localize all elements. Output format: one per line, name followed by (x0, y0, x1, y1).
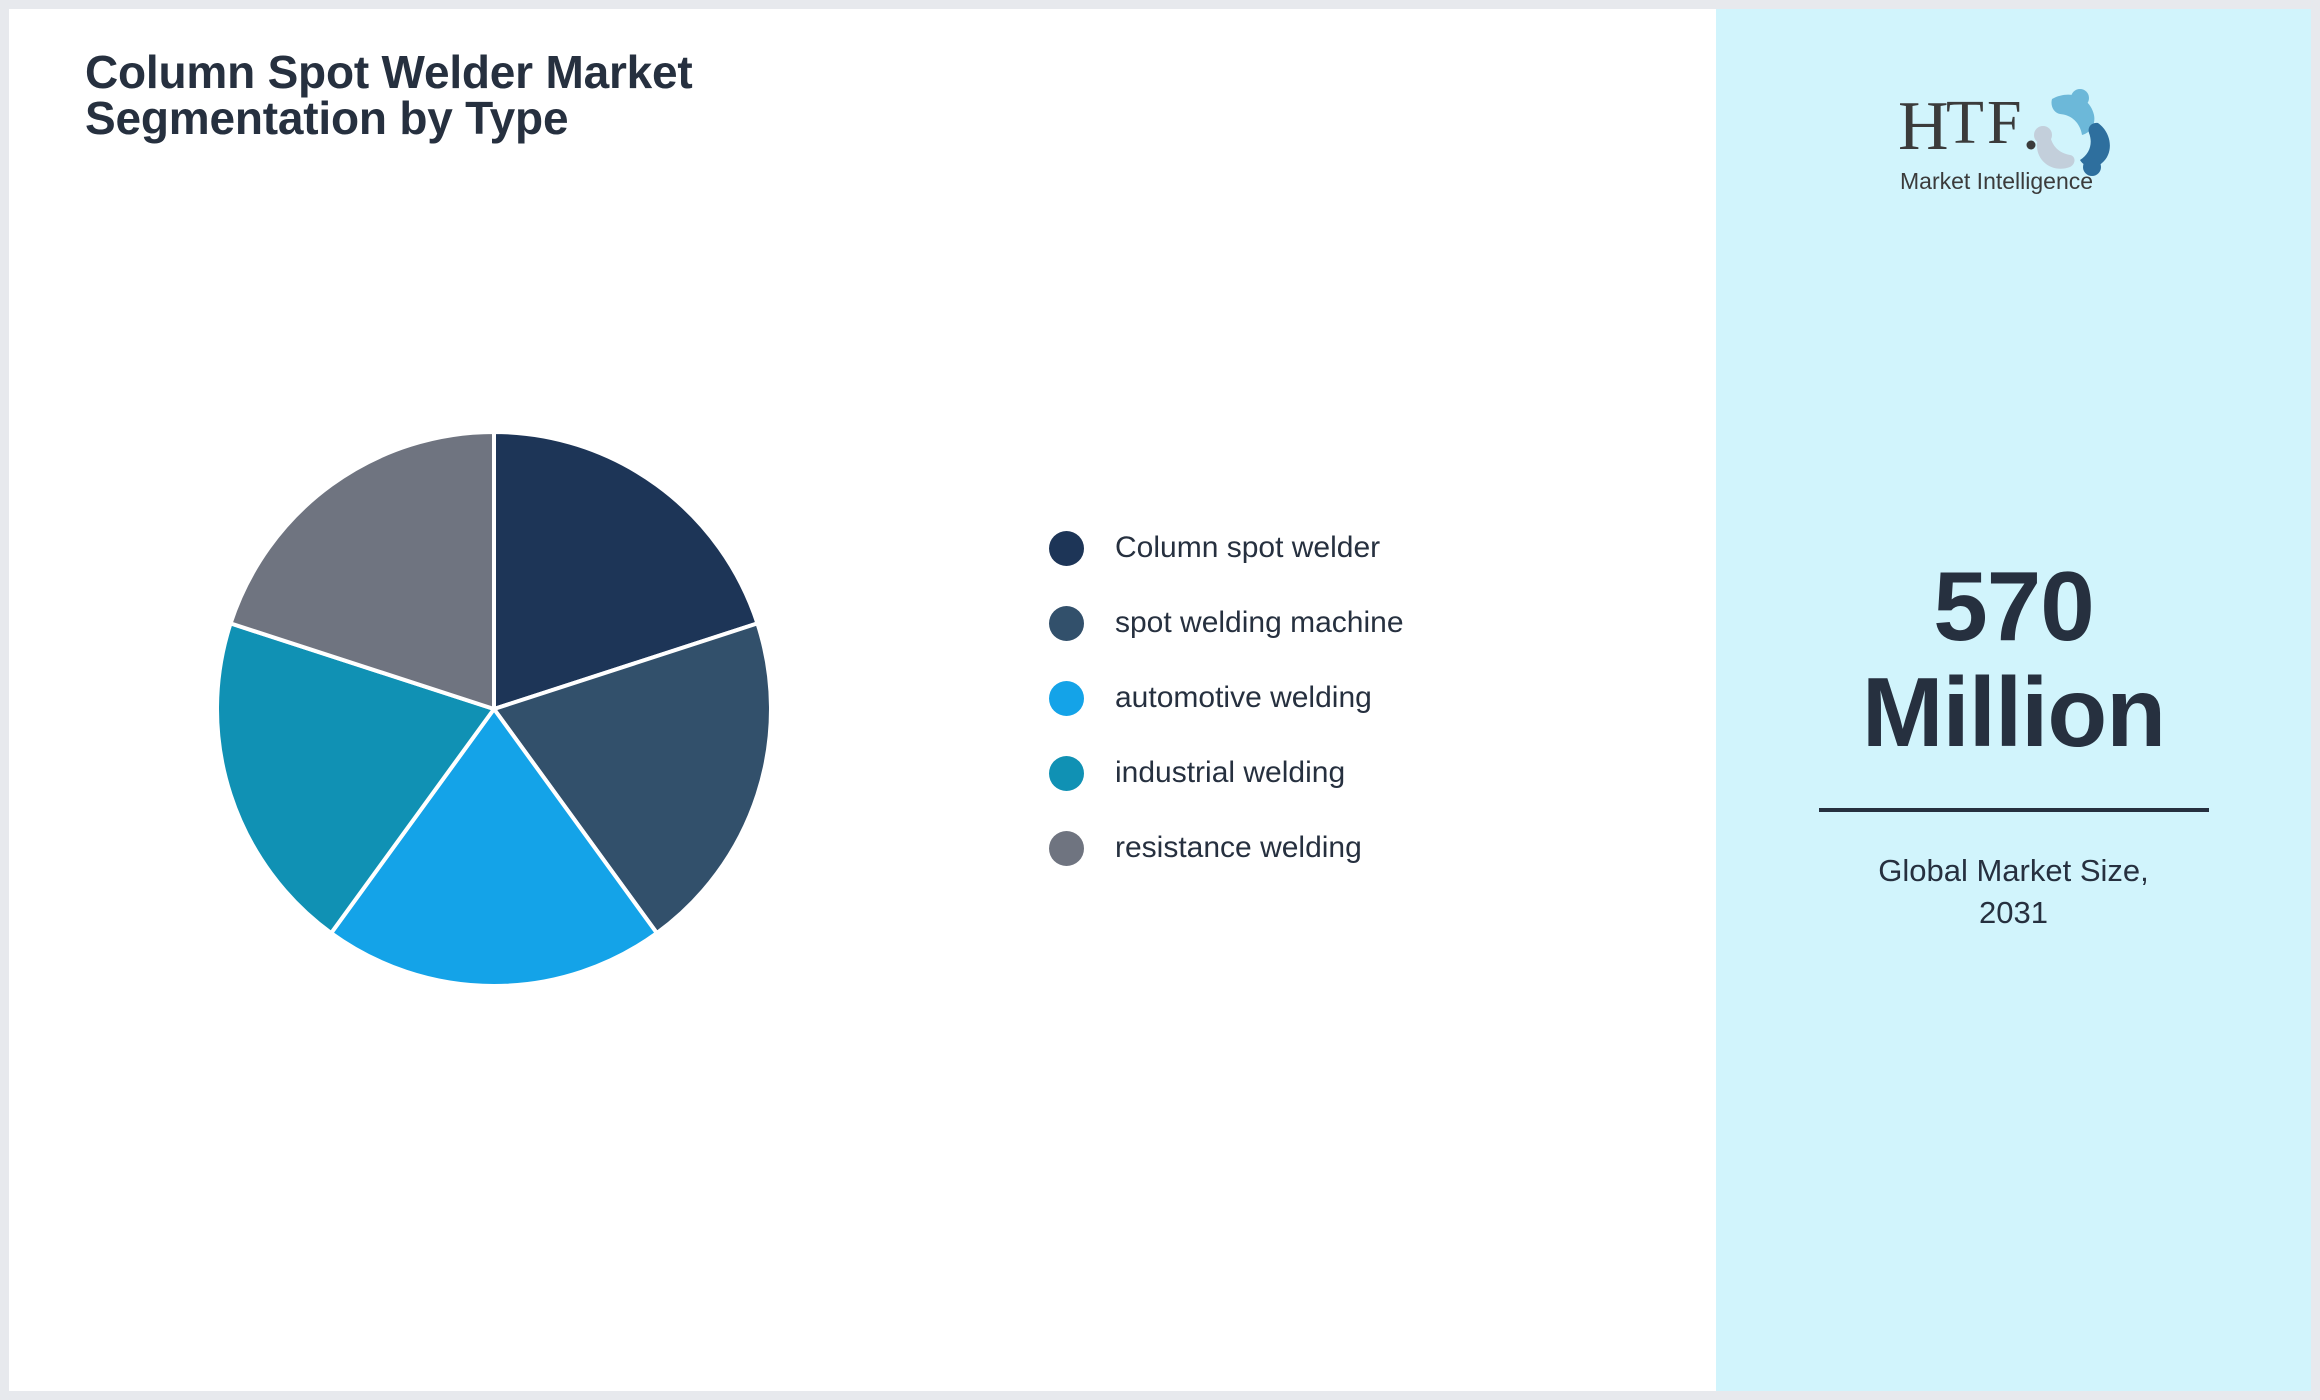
legend-swatch-icon (1049, 531, 1084, 566)
logo-wordmark-text: H (1898, 88, 1949, 165)
legend-item[interactable]: Column spot welder (1049, 525, 1404, 571)
legend-swatch-icon (1049, 606, 1084, 641)
legend-item-label: industrial welding (1115, 758, 1345, 788)
pie-chart-svg (209, 424, 779, 994)
legend-item[interactable]: resistance welding (1049, 825, 1404, 871)
market-size-stat: 570 Million Global Market Size, 2031 (1804, 554, 2224, 933)
pie-slice-group (217, 432, 771, 986)
pie-chart (209, 424, 779, 994)
legend-item[interactable]: industrial welding (1049, 750, 1404, 796)
stat-value: 570 Million (1804, 554, 2224, 766)
logo-wordmark-text: F (1987, 89, 2021, 157)
legend-item-label: Column spot welder (1115, 533, 1380, 563)
logo-dot-icon (2026, 141, 2035, 150)
chart-panel: Column Spot Welder Market Segmentation b… (9, 9, 1716, 1391)
stat-panel: H T F Market Intelligence 570 Million (1716, 9, 2311, 1391)
htf-market-intelligence-logo: H T F Market Intelligence (1884, 71, 2144, 199)
logo-svg: H T F Market Intelligence (1884, 71, 2144, 199)
logo-tagline-text: Market Intelligence (1900, 168, 2093, 194)
legend-item-label: automotive welding (1115, 683, 1372, 713)
stat-divider (1819, 808, 2209, 812)
page-title: Column Spot Welder Market Segmentation b… (85, 49, 905, 141)
legend-swatch-icon (1049, 756, 1084, 791)
legend-item-label: resistance welding (1115, 833, 1362, 863)
legend-swatch-icon (1049, 831, 1084, 866)
legend-swatch-icon (1049, 681, 1084, 716)
chart-legend: Column spot welder spot welding machine … (1049, 525, 1404, 871)
infographic-root: Column Spot Welder Market Segmentation b… (0, 0, 2320, 1400)
legend-item-label: spot welding machine (1115, 608, 1404, 638)
legend-item[interactable]: automotive welding (1049, 675, 1404, 721)
legend-item[interactable]: spot welding machine (1049, 600, 1404, 646)
stat-caption: Global Market Size, 2031 (1804, 850, 2224, 934)
logo-wordmark-text: T (1946, 89, 1984, 157)
three-people-circle-icon (2034, 89, 2110, 176)
